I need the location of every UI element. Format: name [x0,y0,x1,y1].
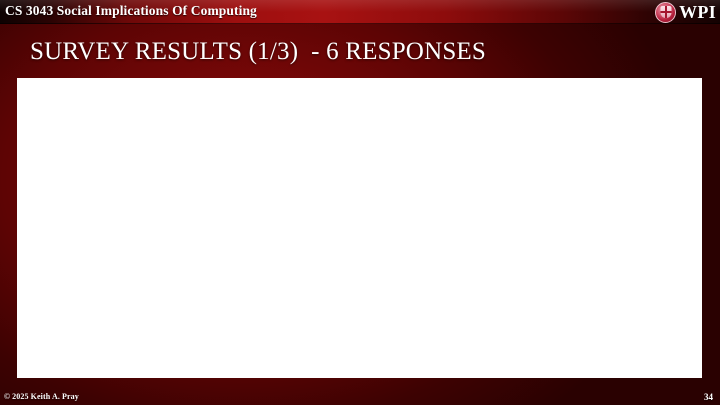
slide-content-panel [17,78,702,378]
footer-copyright: © 2025 Keith A. Pray [4,392,79,401]
wpi-seal-icon [655,2,676,23]
slide-canvas: CS 3043 Social Implications Of Computing… [0,0,720,405]
wpi-wordmark: WPI [679,2,716,22]
wpi-logo: WPI [655,1,716,23]
slide-header-bar: CS 3043 Social Implications Of Computing… [0,0,720,24]
seal-cross-horizontal [660,11,671,13]
slide-title: SURVEY RESULTS (1/3) - 6 RESPONSES [30,36,486,68]
footer-page-number: 34 [704,392,713,402]
course-header-title: CS 3043 Social Implications Of Computing [5,3,257,19]
